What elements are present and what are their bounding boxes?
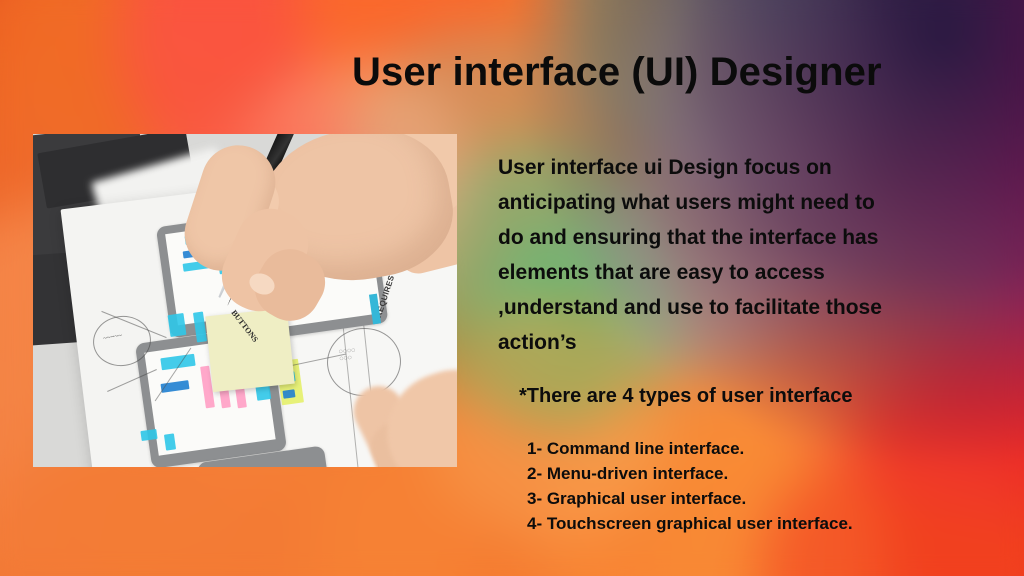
slide: User interface (UI) Designer xyxy=(0,0,1024,576)
subheading: *There are 4 types of user interface xyxy=(519,385,852,408)
interface-types-list: 1- Command line interface. 2- Menu-drive… xyxy=(527,436,853,536)
photo-sticky-note xyxy=(205,308,294,392)
list-item: 2- Menu-driven interface. xyxy=(527,461,853,486)
photo-highlight-mark xyxy=(168,313,187,337)
paragraph-line: User interface ui Design focus on xyxy=(498,150,998,185)
list-item: 4- Touchscreen graphical user interface. xyxy=(527,511,853,536)
paragraph-line: elements that are easy to access xyxy=(498,255,998,290)
body-paragraph: User interface ui Design focus on antici… xyxy=(498,150,998,360)
paragraph-line: ,understand and use to facilitate those xyxy=(498,290,998,325)
paragraph-line: action’s xyxy=(498,325,998,360)
photo-highlight-mark xyxy=(283,389,296,399)
list-item: 3- Graphical user interface. xyxy=(527,486,853,511)
ui-sketch-photo: ~~~~~ ◌◌◌◌◌◌◌ REQUIRES BUTTONS xyxy=(33,134,457,467)
slide-title: User interface (UI) Designer xyxy=(352,50,952,94)
photo-highlight-mark xyxy=(164,433,176,450)
paragraph-line: anticipating what users might need to xyxy=(498,185,998,220)
list-item: 1- Command line interface. xyxy=(527,436,853,461)
paragraph-line: do and ensuring that the interface has xyxy=(498,220,998,255)
